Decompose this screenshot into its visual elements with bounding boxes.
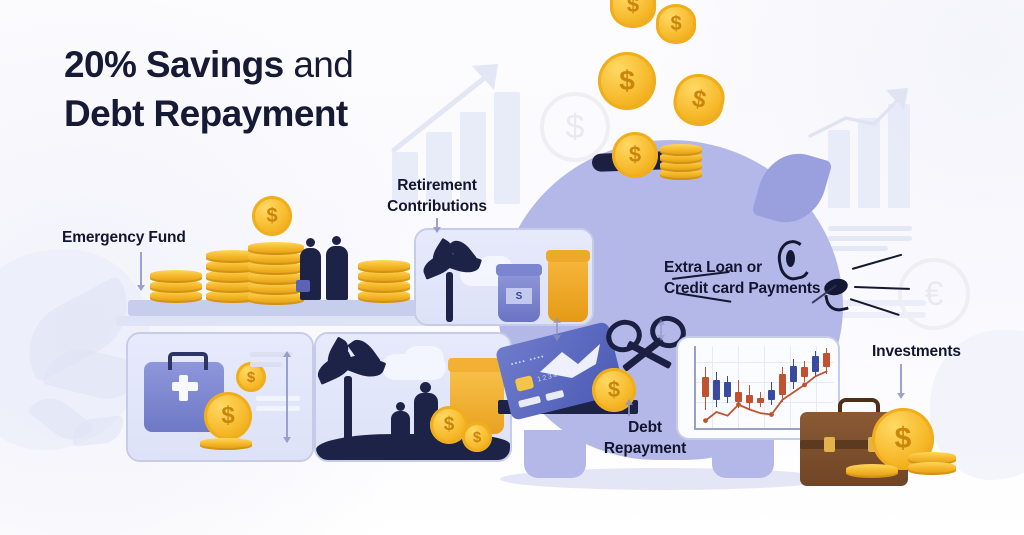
infographic-canvas: $ € 20% Savings and Debt Repayment $ $ $… [0,0,1024,535]
label-extra-loan: Extra Loan or Credit card Payments [664,258,834,300]
label-retirement-contributions: Retirement Contributions [376,176,498,218]
falling-coin: $ [656,4,696,44]
connector-debt-repayment [628,400,630,416]
connector-measure-right [660,320,662,340]
falling-coin: $ [669,69,729,130]
euro-watermark-icon: € [898,258,970,330]
emergency-fund-card: $ $ [126,332,314,462]
connector-retirement [436,218,438,232]
dollar-watermark-icon: $ [540,92,610,162]
retirement-jars-panel: S [414,228,594,326]
card-measure-arrow [286,352,288,442]
palm-tree-icon [446,272,453,322]
connector-emergency-fund [140,252,142,290]
falling-coin: $ [598,52,656,110]
label-debt-repayment: Debt Repayment [592,418,698,460]
card-coin: $ [462,422,492,452]
card-coin: $ [204,392,252,440]
connector-measure-center [556,318,558,340]
label-emergency-fund: Emergency Fund [62,228,242,249]
title-line2: Debt Repayment [64,93,348,134]
coin-top-of-stack: $ [252,196,292,236]
title-line1-thin: and [284,44,354,85]
elderly-person-icon [420,382,431,393]
label-investments: Investments [872,342,1012,363]
background-arrow-right [806,84,926,154]
piggy-whisker [852,254,903,271]
elderly-person-icon [396,402,405,411]
falling-coin: $ [610,0,656,28]
connector-investments [900,364,902,398]
title-line1-strong: 20% Savings [64,44,284,85]
jar-label: S [506,288,532,304]
palm-tree-icon [344,376,352,440]
retirement-card: $ $ [314,332,512,462]
falling-coin: $ [612,132,658,178]
page-title: 20% Savings and Debt Repayment [64,40,504,138]
savings-jar-orange [548,258,588,322]
